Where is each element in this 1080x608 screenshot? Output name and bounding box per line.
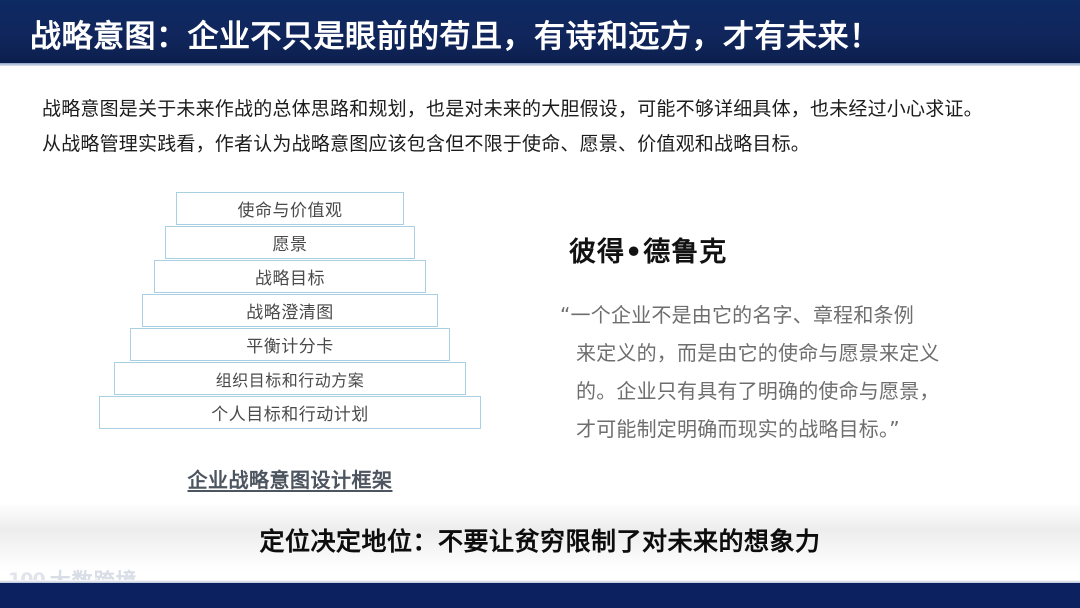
bottom-banner-text: 定位决定地位：不要让贫穷限制了对未来的想象力 bbox=[0, 522, 1080, 558]
pyramid-tier-individual-goals-plans: 个人目标和行动计划 bbox=[99, 396, 481, 429]
quote-line-3: 的。企业只有具有了明确的使命与愿景， bbox=[560, 372, 1010, 410]
quote-author: 彼得•德鲁克 bbox=[569, 230, 727, 269]
pyramid-tier-mission-values: 使命与价值观 bbox=[176, 192, 404, 225]
pyramid-caption: 企业战略意图设计框架 bbox=[90, 464, 490, 493]
pyramid-tier-strategy-map: 战略澄清图 bbox=[142, 294, 438, 327]
header-banner: 战略意图：企业不只是眼前的苟且，有诗和远方，才有未来！ bbox=[0, 0, 1080, 63]
footer-bar: 王西海 版权所有 134 bbox=[0, 583, 1080, 608]
body-line-2: 从战略管理实践看，作者认为战略意图应该包含但不限于使命、愿景、价值观和战略目标。 bbox=[42, 127, 1052, 162]
pyramid-tier-org-goals-actions: 组织目标和行动方案 bbox=[114, 362, 466, 395]
quote-line-2: 来定义的，而是由它的使命与愿景来定义 bbox=[560, 334, 1010, 372]
pyramid-tier-vision: 愿景 bbox=[165, 226, 415, 259]
quote-text: “一个企业不是由它的名字、章程和条例 来定义的，而是由它的使命与愿景来定义 的。… bbox=[560, 296, 1010, 448]
body-paragraph: 战略意图是关于未来作战的总体思路和规划，也是对未来的大胆假设，可能不够详细具体，… bbox=[42, 92, 1052, 162]
pyramid-tier-balanced-scorecard: 平衡计分卡 bbox=[130, 328, 450, 361]
page-title: 战略意图：企业不只是眼前的苟且，有诗和远方，才有未来！ bbox=[30, 11, 881, 56]
header-divider bbox=[0, 63, 1080, 66]
strategy-pyramid-diagram: 使命与价值观 愿景 战略目标 战略澄清图 平衡计分卡 组织目标和行动方案 个人目… bbox=[90, 192, 490, 457]
quote-line-1: “一个企业不是由它的名字、章程和条例 bbox=[560, 296, 1010, 334]
slide: 战略意图：企业不只是眼前的苟且，有诗和远方，才有未来！ 战略意图是关于未来作战的… bbox=[0, 0, 1080, 608]
pyramid-tier-strategic-goals: 战略目标 bbox=[154, 260, 426, 293]
quote-line-4: 才可能制定明确而现实的战略目标。” bbox=[560, 410, 1010, 448]
body-line-1: 战略意图是关于未来作战的总体思路和规划，也是对未来的大胆假设，可能不够详细具体，… bbox=[42, 92, 1052, 127]
